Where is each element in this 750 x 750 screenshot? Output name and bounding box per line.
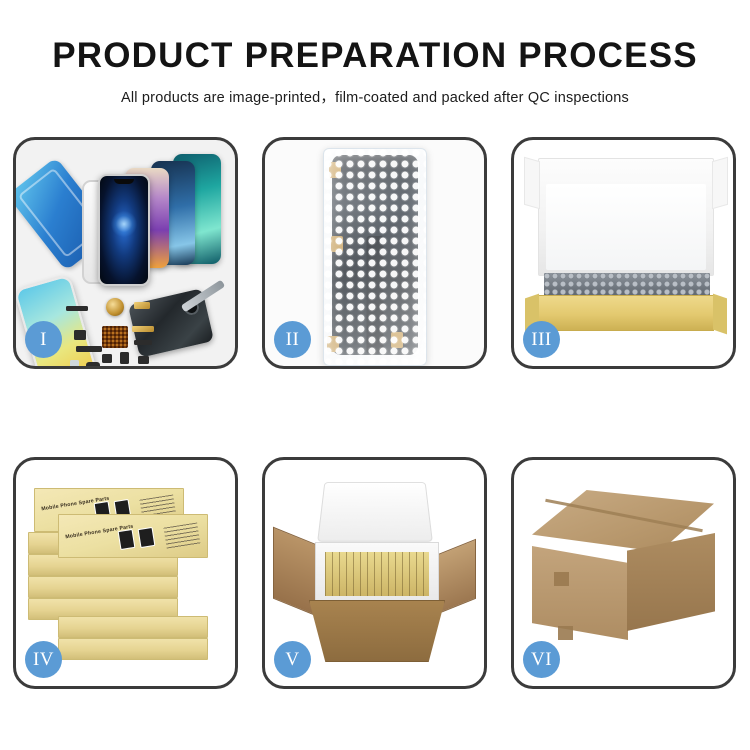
part-chip-11 bbox=[138, 356, 149, 364]
screen-dark-graphic bbox=[98, 174, 150, 286]
process-panel-1: I bbox=[13, 137, 238, 369]
stack-box-1 bbox=[58, 638, 208, 660]
step-badge-4: IV bbox=[25, 641, 62, 678]
step-badge-5: V bbox=[274, 641, 311, 678]
page-subtitle: All products are image-printed，film-coat… bbox=[0, 86, 750, 107]
part-chip-8 bbox=[120, 352, 129, 364]
carton-tape-1 bbox=[554, 572, 569, 586]
speaker-part-graphic bbox=[106, 298, 124, 316]
stack-box-2 bbox=[58, 616, 208, 638]
part-chip-1 bbox=[66, 306, 88, 311]
box-label-screen-b1 bbox=[118, 529, 136, 550]
box-label-text-block-b bbox=[163, 522, 200, 549]
part-chip-3 bbox=[132, 326, 154, 332]
inner-boxes-graphic bbox=[325, 552, 429, 596]
step-badge-6: VI bbox=[523, 641, 560, 678]
part-chip-6 bbox=[134, 340, 152, 345]
bubble-fill-graphic bbox=[544, 273, 710, 297]
part-chip-10 bbox=[70, 360, 79, 366]
part-chip-9 bbox=[86, 362, 100, 366]
process-panel-6: VI bbox=[511, 457, 736, 689]
bubble-wrap-graphic bbox=[323, 148, 427, 366]
box-stack-graphic: Mobile Phone Spare Parts Mobile Phone Sp… bbox=[28, 484, 228, 672]
foam-lid-graphic bbox=[317, 482, 433, 542]
step-badge-3: III bbox=[523, 321, 560, 358]
process-panel-5: V bbox=[262, 457, 487, 689]
stack-box-top-front: Mobile Phone Spare Parts bbox=[58, 514, 208, 558]
logic-board-graphic bbox=[102, 326, 128, 348]
carton-left-face bbox=[532, 546, 628, 640]
foam-sheet-graphic bbox=[546, 184, 706, 270]
part-chip-4 bbox=[74, 330, 86, 340]
header: PRODUCT PREPARATION PROCESS All products… bbox=[0, 0, 750, 107]
infographic-page: PRODUCT PREPARATION PROCESS All products… bbox=[0, 0, 750, 750]
step-badge-1: I bbox=[25, 321, 62, 358]
part-chip-2 bbox=[134, 302, 150, 309]
part-chip-7 bbox=[102, 354, 112, 363]
step-badge-2: II bbox=[274, 321, 311, 358]
box-base-graphic bbox=[538, 295, 714, 331]
carton-body-graphic bbox=[309, 600, 445, 662]
part-chip-5 bbox=[76, 346, 102, 352]
process-panel-4: Mobile Phone Spare Parts Mobile Phone Sp… bbox=[13, 457, 238, 689]
process-panel-2: II bbox=[262, 137, 487, 369]
stack-box-4 bbox=[28, 576, 178, 598]
page-title: PRODUCT PREPARATION PROCESS bbox=[0, 38, 750, 75]
process-grid: I II III bbox=[13, 137, 737, 689]
carton-tape-2 bbox=[558, 626, 573, 640]
box-label-screen-b2 bbox=[138, 527, 156, 548]
process-panel-3: III bbox=[511, 137, 736, 369]
phone-yellow-graphic bbox=[16, 274, 100, 366]
